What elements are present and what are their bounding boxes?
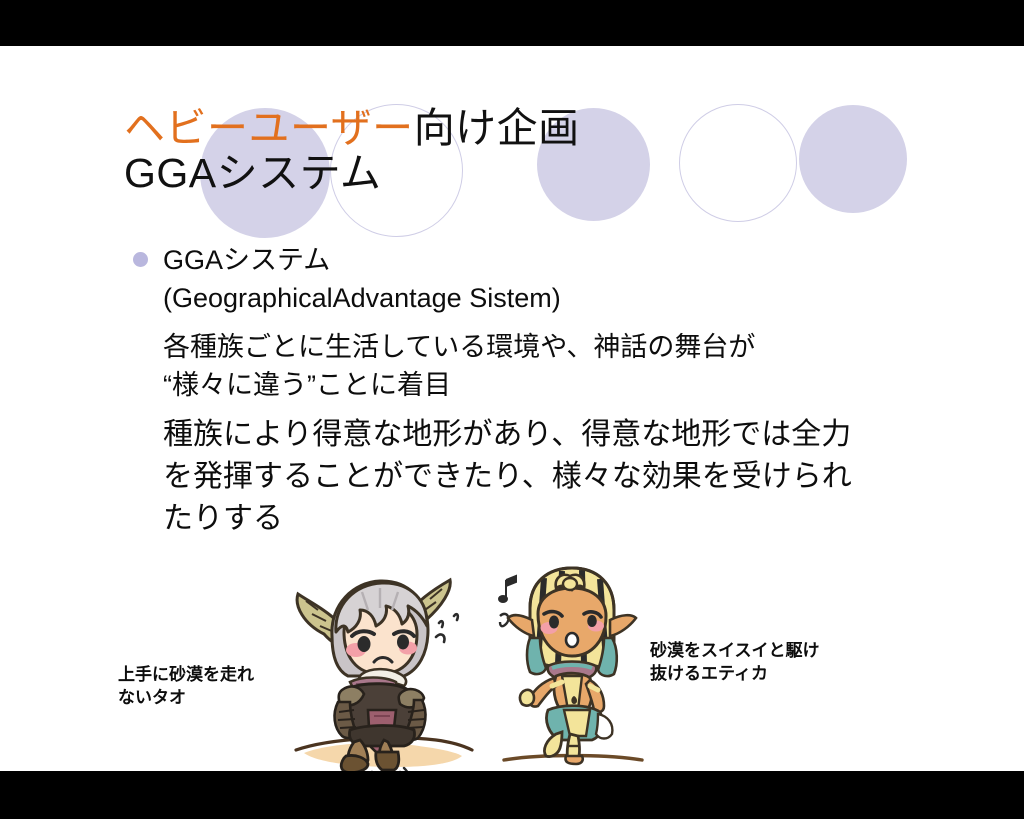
character-illustration-tao [276, 570, 486, 771]
title-line-1: ヘビーユーザー向け企画 [124, 106, 924, 151]
screenshot-root: ヘビーユーザー向け企画 GGAシステム GGAシステム (Geographica… [0, 0, 1024, 819]
bullet-item-1-label: GGAシステム [163, 241, 930, 279]
slide-body: GGAシステム (GeographicalAdvantage Sistem) 各… [120, 241, 930, 540]
slide-canvas: ヘビーユーザー向け企画 GGAシステム GGAシステム (Geographica… [0, 46, 1024, 771]
paragraph-1-line-2: “様々に違う”ことに着目 [120, 366, 930, 404]
caption-etika: 砂漠をスイスイと駆け 抜けるエティカ [650, 640, 820, 685]
title-line-2: GGAシステム [124, 151, 924, 196]
letterbox-bottom [0, 771, 1024, 819]
paragraph-2-line-3: たりする [120, 498, 930, 540]
paragraph-2-line-2: を発揮することができたり、様々な効果を受けられ [120, 456, 930, 498]
title-accent-text: ヘビーユーザー [124, 105, 414, 151]
bullet-item-1-subtitle: (GeographicalAdvantage Sistem) [120, 279, 930, 317]
paragraph-2-line-1: 種族により得意な地形があり、得意な地形では全力 [120, 414, 930, 456]
bullet-dot-icon [133, 252, 148, 267]
slide-title: ヘビーユーザー向け企画 GGAシステム [124, 106, 924, 196]
spacer-2 [120, 404, 930, 414]
caption-tao: 上手に砂漠を走れ ないタオ [118, 664, 254, 709]
bullet-item-1: GGAシステム [120, 241, 930, 279]
title-rest-text: 向け企画 [414, 105, 580, 151]
paragraph-1-line-1: 各種族ごとに生活している環境や、神話の舞台が [120, 328, 930, 366]
character-illustration-etika [486, 564, 666, 771]
spacer-1 [120, 318, 930, 328]
letterbox-top [0, 0, 1024, 46]
